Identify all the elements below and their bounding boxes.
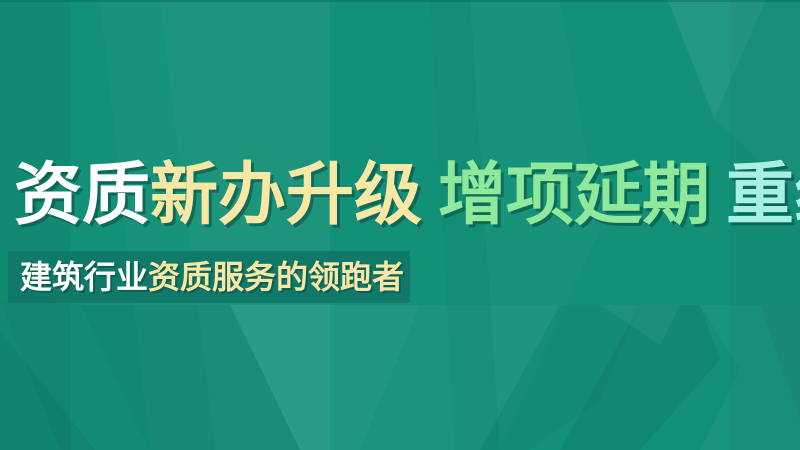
headline: 资质新办升级增项延期重组分立: [14, 160, 800, 232]
promo-banner: 资质新办升级增项延期重组分立 建筑行业资质服务的领跑者: [0, 0, 800, 450]
headline-seg-zizhi: 资质: [14, 160, 150, 232]
top-edge-line: [0, 0, 800, 2]
headline-seg-zengxiangyanqi: 增项延期: [438, 160, 710, 232]
subtitle-seg-tagline: 资质服务的领跑者: [148, 255, 404, 299]
headline-seg-xinbanshengji: 新办升级: [150, 160, 422, 232]
subtitle: 建筑行业资质服务的领跑者: [20, 255, 404, 299]
subtitle-seg-industry: 建筑行业: [20, 255, 148, 299]
headline-seg-chongzufenli: 重组分立: [726, 160, 800, 232]
